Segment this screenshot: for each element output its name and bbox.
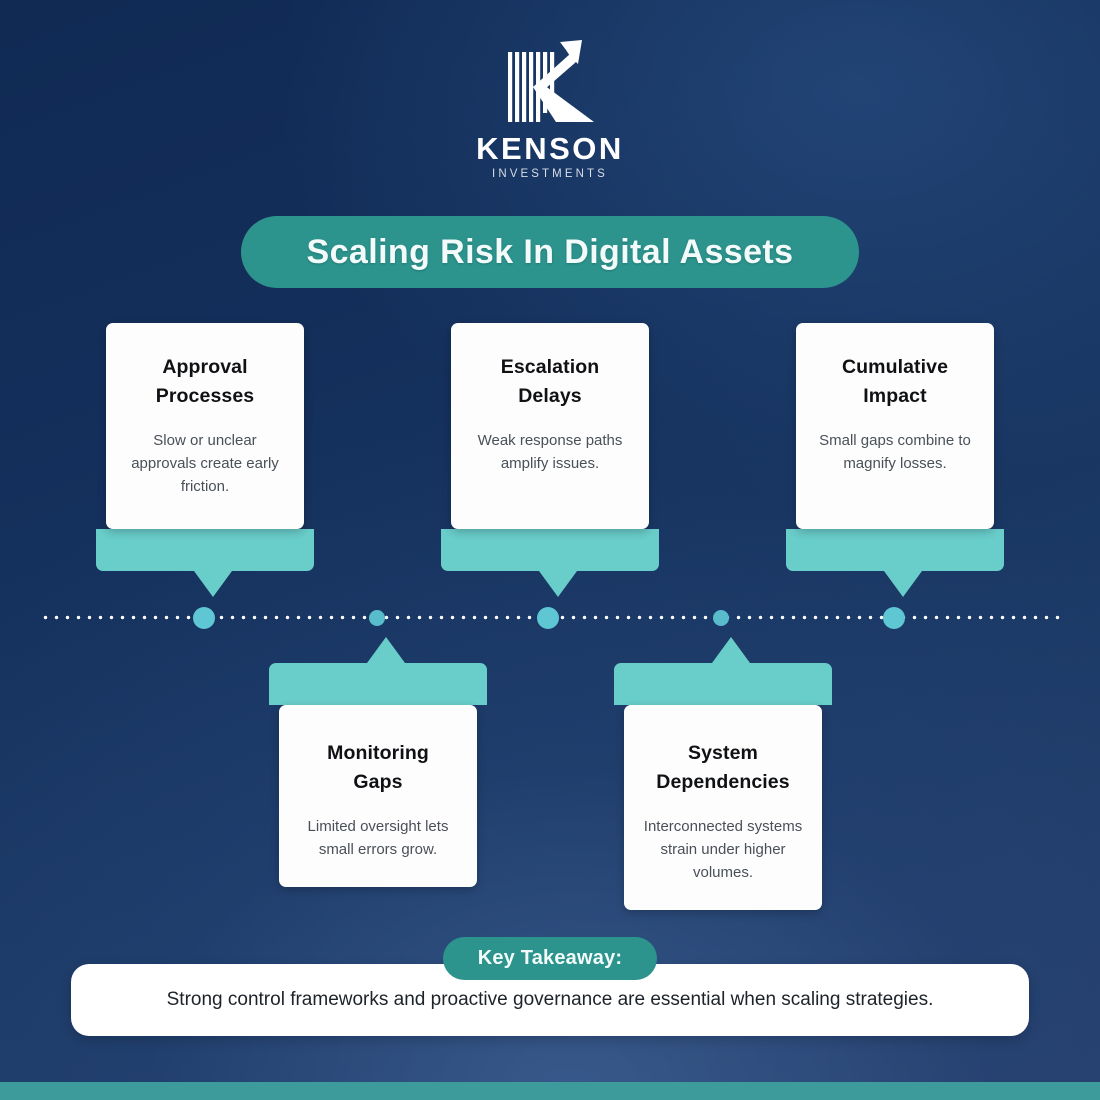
card-description: Small gaps combine to magnify losses.	[812, 429, 978, 475]
kenson-k-arrow-logo-icon	[490, 38, 610, 134]
card-title-line1: System	[688, 742, 758, 764]
pointer-down-icon	[884, 571, 922, 597]
card-connector-bar	[786, 529, 1004, 571]
brand-name: KENSON	[476, 132, 624, 166]
card-title-line2: Impact	[863, 385, 926, 407]
card-connector-bar	[96, 529, 314, 571]
pointer-down-icon	[539, 571, 577, 597]
key-takeaway-text: Strong control frameworks and proactive …	[141, 987, 960, 1013]
card-title-line2: Dependencies	[656, 771, 789, 793]
timeline-node-2	[369, 610, 385, 626]
card-panel: Monitoring Gaps Limited oversight lets s…	[279, 705, 477, 887]
card-title: Escalation Delays	[467, 353, 633, 411]
card-panel: Approval Processes Slow or unclear appro…	[106, 323, 304, 529]
card-panel: Cumulative Impact Small gaps combine to …	[796, 323, 994, 529]
card-connector-bar	[269, 663, 487, 705]
timeline-node-5	[883, 607, 905, 629]
card-panel: System Dependencies Interconnected syste…	[624, 705, 822, 910]
card-title-line1: Approval	[162, 356, 247, 378]
card-cumulative-impact[interactable]: Cumulative Impact Small gaps combine to …	[796, 323, 994, 529]
pointer-down-icon	[194, 571, 232, 597]
card-description: Slow or unclear approvals create early f…	[122, 429, 288, 498]
card-description: Weak response paths amplify issues.	[467, 429, 633, 475]
pointer-up-icon	[367, 637, 405, 663]
timeline-node-3	[537, 607, 559, 629]
card-connector-bar	[441, 529, 659, 571]
card-title-line2: Delays	[518, 385, 581, 407]
footer-accent-bar	[0, 1082, 1100, 1100]
page-title-text: Scaling Risk In Digital Assets	[307, 233, 794, 272]
brand-logo: KENSON INVESTMENTS	[0, 38, 1100, 181]
card-connector-bar	[614, 663, 832, 705]
card-title-line1: Monitoring	[327, 742, 429, 764]
card-approval-processes[interactable]: Approval Processes Slow or unclear appro…	[106, 323, 304, 529]
page-title: Scaling Risk In Digital Assets	[241, 216, 859, 288]
card-title-line1: Cumulative	[842, 356, 948, 378]
card-system-dependencies[interactable]: System Dependencies Interconnected syste…	[624, 663, 822, 910]
card-description: Interconnected systems strain under high…	[640, 815, 806, 884]
card-description: Limited oversight lets small errors grow…	[295, 815, 461, 861]
card-title: System Dependencies	[640, 739, 806, 797]
card-title: Monitoring Gaps	[295, 739, 461, 797]
card-title-line1: Escalation	[501, 356, 600, 378]
card-title: Approval Processes	[122, 353, 288, 411]
card-panel: Escalation Delays Weak response paths am…	[451, 323, 649, 529]
card-monitoring-gaps[interactable]: Monitoring Gaps Limited oversight lets s…	[279, 663, 477, 887]
key-takeaway-label: Key Takeaway:	[478, 947, 623, 970]
card-title-line2: Processes	[156, 385, 254, 407]
timeline	[40, 613, 1060, 623]
card-title-line2: Gaps	[353, 771, 402, 793]
pointer-up-icon	[712, 637, 750, 663]
card-title: Cumulative Impact	[812, 353, 978, 411]
card-escalation-delays[interactable]: Escalation Delays Weak response paths am…	[451, 323, 649, 529]
brand-tagline: INVESTMENTS	[492, 167, 608, 181]
key-takeaway-badge: Key Takeaway:	[443, 937, 657, 980]
